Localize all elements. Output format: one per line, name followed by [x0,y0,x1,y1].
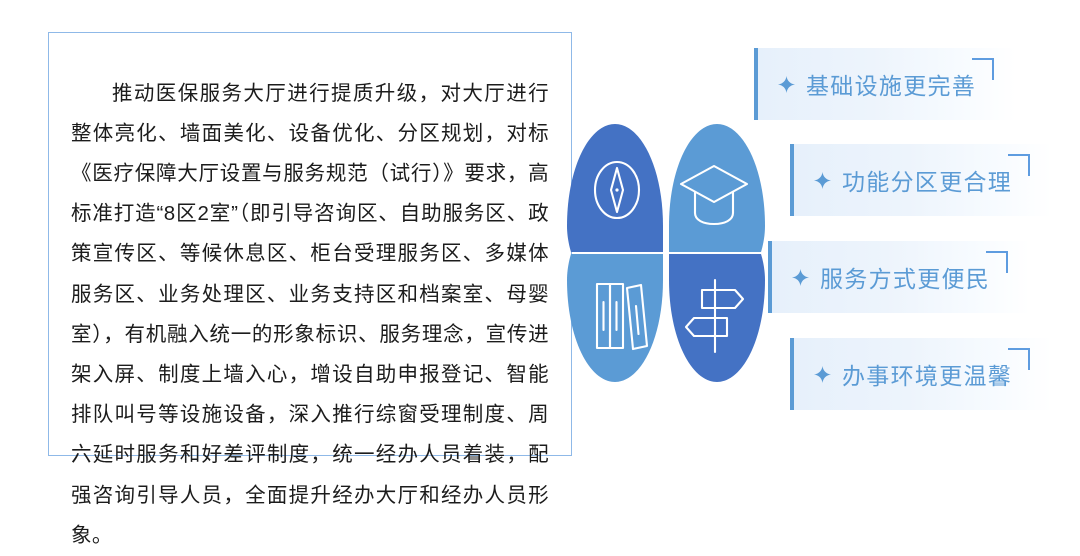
feature-card-label: 功能分区更合理 [842,163,1012,197]
petal-top-right[interactable] [669,124,765,252]
petal-bottom-left[interactable] [567,254,663,382]
diamond-icon [778,76,795,93]
four-petal-diagram [565,108,765,398]
petal-top-left[interactable] [567,124,663,252]
feature-card[interactable]: 基础设施更完善 [754,48,1016,120]
diamond-icon [814,172,831,189]
feature-card-label: 基础设施更完善 [806,67,976,101]
feature-card[interactable]: 功能分区更合理 [790,144,1052,216]
description-paragraph: 推动医保服务大厅进行提质升级，对大厅进行整体亮化、墙面美化、设备优化、分区规划，… [49,54,571,556]
feature-card[interactable]: 办事环境更温馨 [790,338,1052,410]
diamond-icon [814,366,831,383]
feature-card-label: 服务方式更便民 [820,260,990,294]
description-panel: 推动医保服务大厅进行提质升级，对大厅进行整体亮化、墙面美化、设备优化、分区规划，… [48,32,572,456]
feature-card-label: 办事环境更温馨 [842,357,1012,391]
feature-card[interactable]: 服务方式更便民 [768,241,1030,313]
petal-bottom-right[interactable] [669,254,765,382]
diamond-icon [792,269,809,286]
